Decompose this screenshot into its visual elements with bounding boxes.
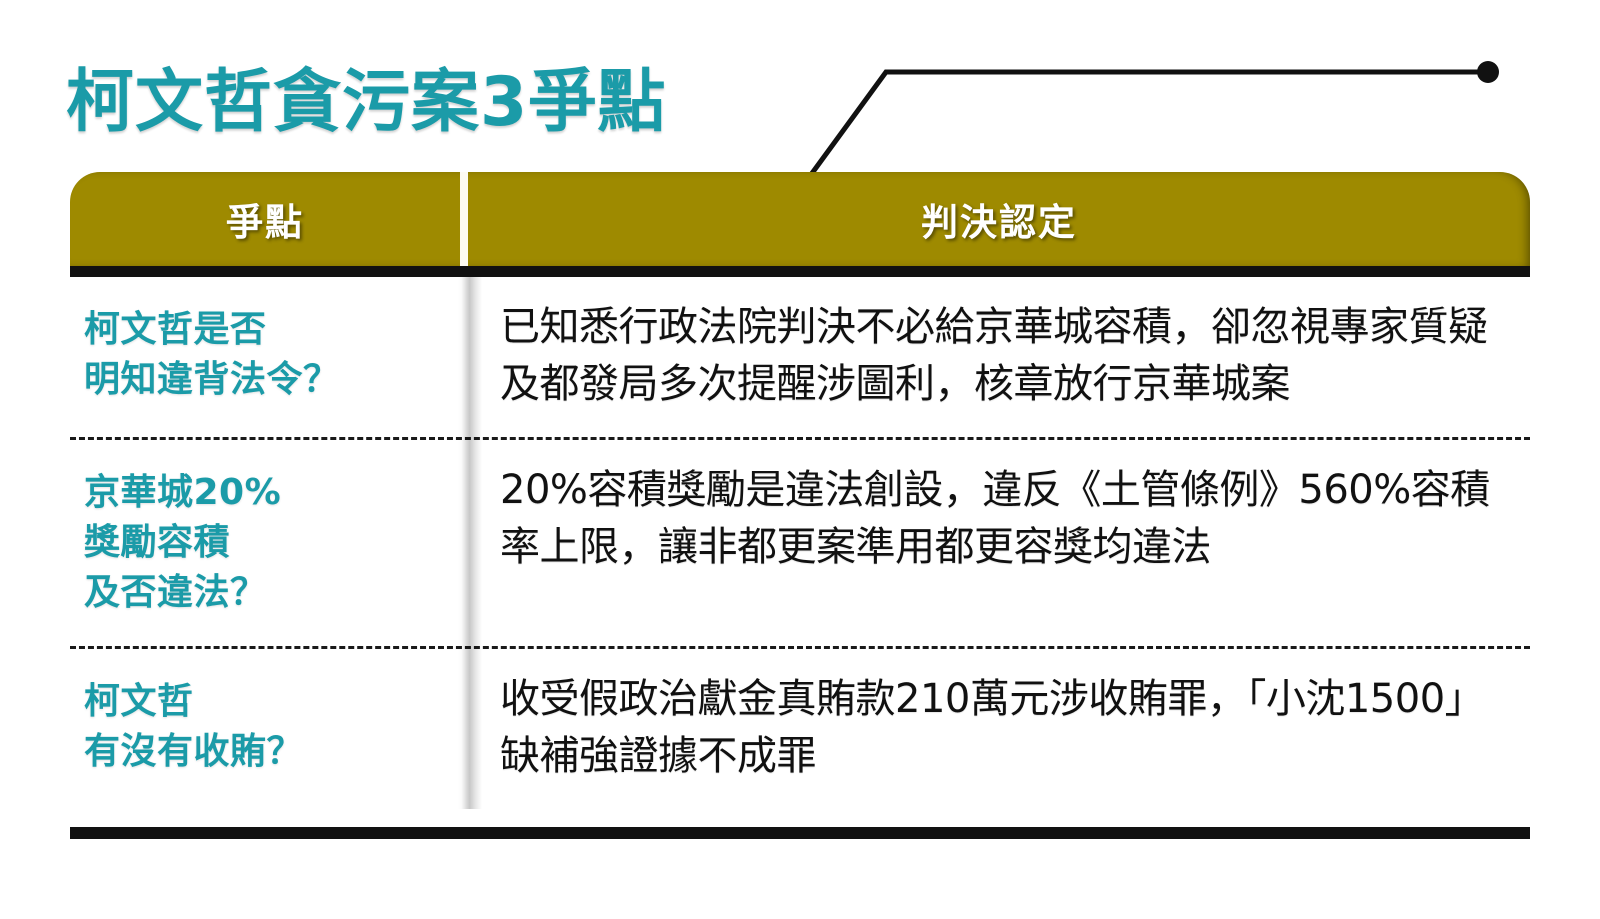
connector-end-dot: [1477, 61, 1499, 83]
header-bottom-rule: [70, 266, 1530, 277]
ruling-cell: 收受假政治獻金真賄款210萬元涉收賄罪，「小沈1500」缺補強證據不成罪: [468, 649, 1530, 809]
table-row: 柯文哲有沒有收賄？ 收受假政治獻金真賄款210萬元涉收賄罪，「小沈1500」缺補…: [70, 646, 1530, 809]
column-header-issue: 爭點: [70, 172, 460, 266]
table-row: 柯文哲是否明知違背法令？ 已知悉行政法院判決不必給京華城容積，卻忽視專家質疑及都…: [70, 277, 1530, 437]
table-header-row: 爭點 判決認定: [70, 172, 1530, 266]
column-header-ruling: 判決認定: [468, 172, 1530, 266]
ruling-cell: 已知悉行政法院判決不必給京華城容積，卻忽視專家質疑及都發局多次提醒涉圖利，核章放…: [468, 277, 1530, 437]
table-bottom-rule: [70, 827, 1530, 839]
issue-cell: 柯文哲是否明知違背法令？: [70, 277, 468, 433]
table-body: 柯文哲是否明知違背法令？ 已知悉行政法院判決不必給京華城容積，卻忽視專家質疑及都…: [70, 277, 1530, 809]
issue-cell: 柯文哲有沒有收賄？: [70, 649, 468, 805]
table-row: 京華城20%獎勵容積及否違法？ 20%容積獎勵是違法創設，違反《土管條例》560…: [70, 437, 1530, 646]
decorative-connector: [770, 50, 1530, 190]
issue-cell: 京華城20%獎勵容積及否違法？: [70, 440, 468, 646]
header-column-divider: [460, 172, 468, 266]
ruling-cell: 20%容積獎勵是違法創設，違反《土管條例》560%容積率上限，讓非都更案準用都更…: [468, 440, 1530, 600]
connector-line: [810, 72, 1482, 176]
page-title: 柯文哲貪污案3爭點: [66, 64, 666, 142]
issues-table: 爭點 判決認定 柯文哲是否明知違背法令？ 已知悉行政法院判決不必給京華城容積，卻…: [70, 172, 1530, 839]
